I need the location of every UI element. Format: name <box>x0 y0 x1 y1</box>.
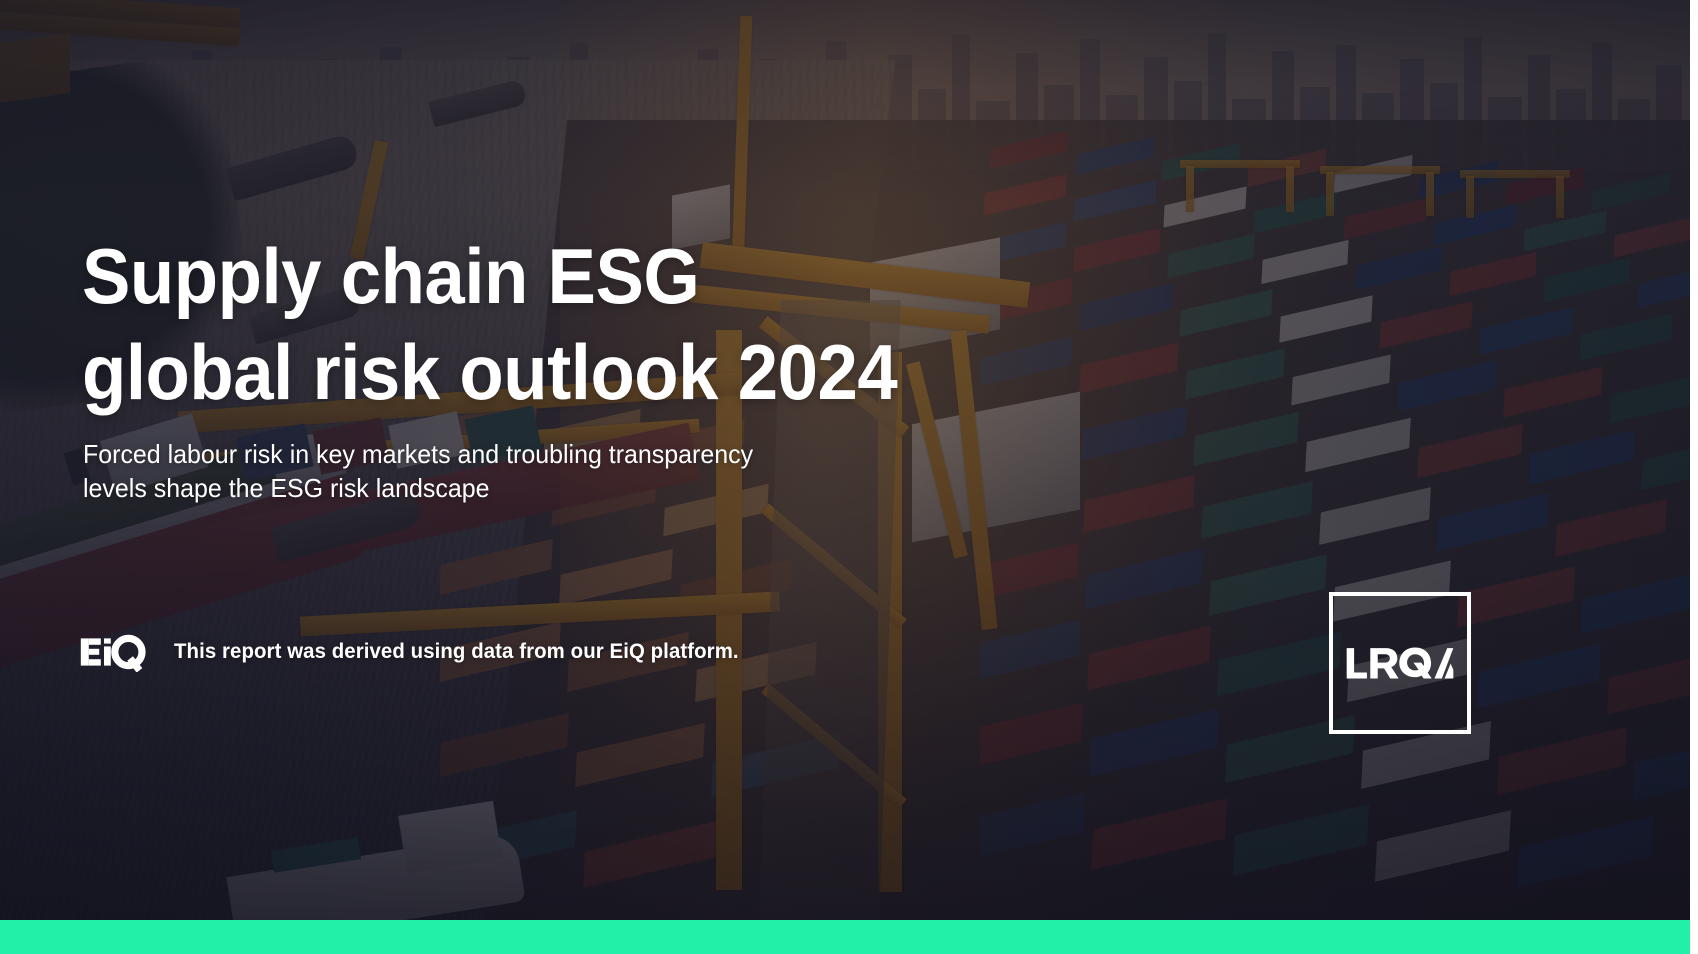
accent-green-bar <box>0 920 1690 954</box>
lrqa-logo-box <box>1329 592 1471 734</box>
cover-content: Supply chain ESG global risk outlook 202… <box>0 0 1698 954</box>
eiq-logo <box>80 632 152 672</box>
eiq-attribution: This report was derived using data from … <box>80 632 756 672</box>
lrqa-logo <box>1346 646 1454 680</box>
page-title: Supply chain ESG global risk outlook 202… <box>82 228 897 420</box>
page-subtitle: Forced labour risk in key markets and tr… <box>83 437 753 505</box>
right-white-margin <box>1690 0 1698 954</box>
report-cover-page: Supply chain ESG global risk outlook 202… <box>0 0 1698 954</box>
eiq-attribution-caption: This report was derived using data from … <box>174 640 739 664</box>
